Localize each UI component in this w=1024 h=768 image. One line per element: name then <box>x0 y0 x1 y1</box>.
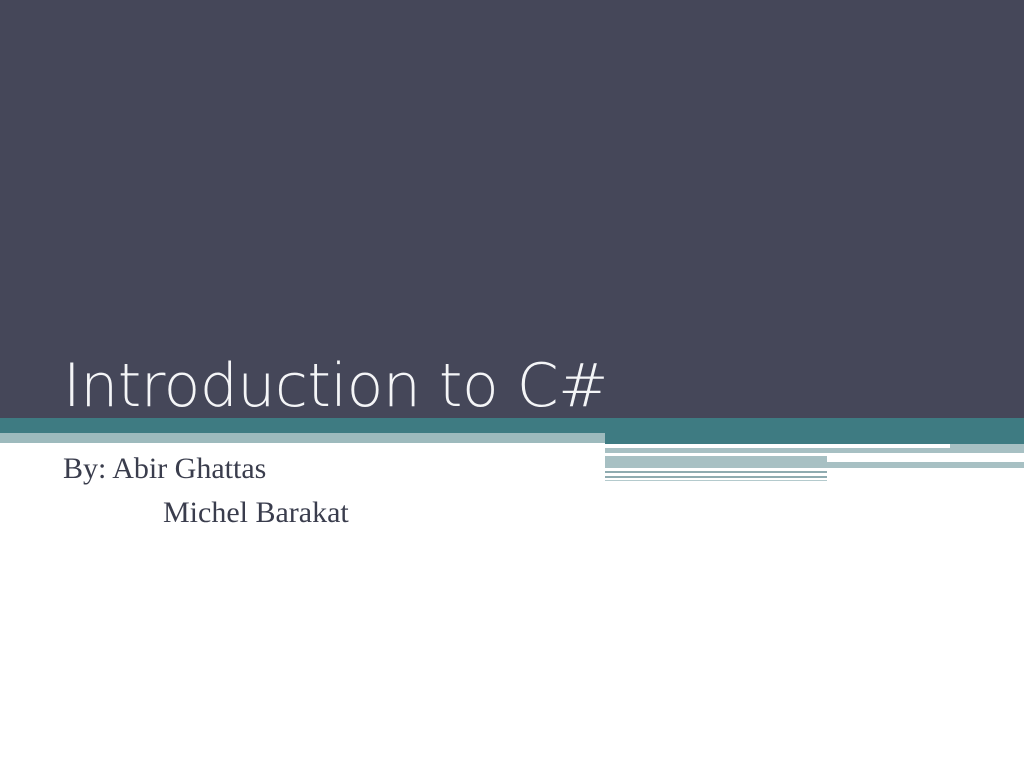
decorative-stripe-notch-2 <box>827 456 1024 462</box>
slide-title: Introduction to C# <box>63 352 963 420</box>
author-line-primary: By: Abir Ghattas <box>63 447 663 491</box>
author-line-secondary: Michel Barakat <box>63 491 663 535</box>
slide-subtitle: By: Abir Ghattas Michel Barakat <box>63 447 663 535</box>
accent-band-light-left <box>0 433 605 443</box>
accent-band-teal-right <box>605 418 1024 444</box>
title-slide: Introduction to C# By: Abir Ghattas Mich… <box>0 0 1024 768</box>
